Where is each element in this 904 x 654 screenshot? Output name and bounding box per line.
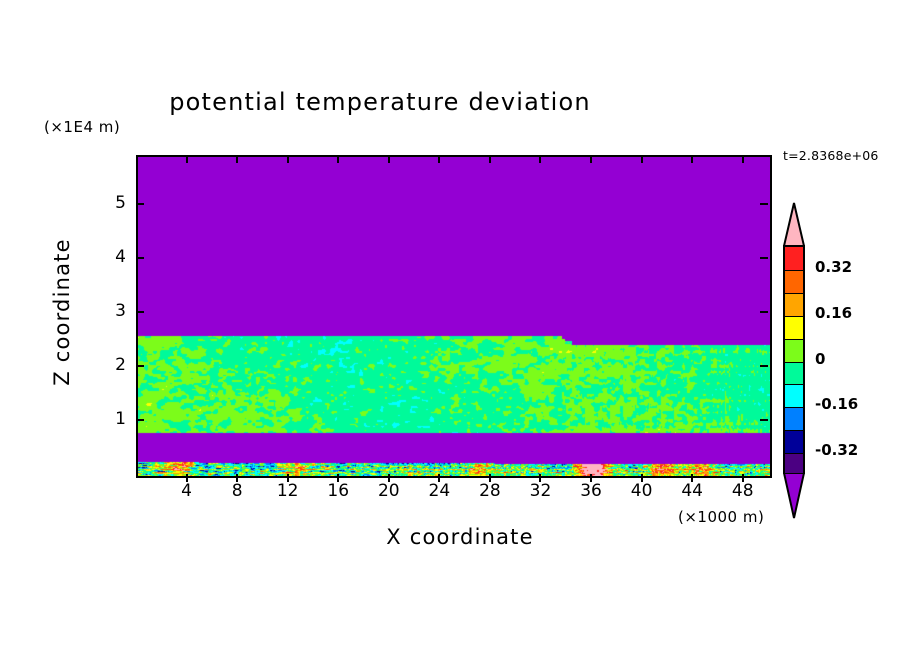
x-tick-label-20: 20 <box>369 481 409 501</box>
contour-field <box>138 157 770 476</box>
x-axis-title: X coordinate <box>280 525 640 549</box>
colorbar-separator-3 <box>785 316 803 317</box>
x-tick-label-24: 24 <box>419 481 459 501</box>
y-tick-label-4: 4 <box>100 247 126 267</box>
x-tick-top-20 <box>388 155 390 163</box>
colorbar-label-4: -0.32 <box>815 441 858 459</box>
colorbar-top-arrow <box>783 202 805 246</box>
colorbar-separator-6 <box>785 384 803 385</box>
colorbar-label-2: 0 <box>815 350 825 368</box>
x-tick-top-12 <box>287 155 289 163</box>
colorbar-separator-4 <box>785 339 803 340</box>
x-tick-top-40 <box>641 155 643 163</box>
colorbar-band-7 <box>785 407 803 430</box>
y-tick-right-3 <box>760 311 768 313</box>
colorbar-label-3: -0.16 <box>815 395 858 413</box>
colorbar-band-2 <box>785 293 803 316</box>
y-tick-4 <box>136 257 144 259</box>
colorbar-band-8 <box>785 430 803 453</box>
colorbar-label-1: 0.16 <box>815 304 852 322</box>
contour-plot-area <box>136 155 772 478</box>
x-tick-label-28: 28 <box>470 481 510 501</box>
y-tick-label-3: 3 <box>100 301 126 321</box>
y-tick-right-4 <box>760 257 768 259</box>
y-tick-label-2: 2 <box>100 355 126 375</box>
y-tick-1 <box>136 419 144 421</box>
x-tick-top-8 <box>236 155 238 163</box>
y-axis-unit-label: (×1E4 m) <box>44 118 120 136</box>
figure-canvas: potential temperature deviation (×1E4 m)… <box>0 0 904 654</box>
x-tick-label-40: 40 <box>622 481 662 501</box>
y-tick-label-5: 5 <box>100 193 126 213</box>
x-tick-label-4: 4 <box>167 481 207 501</box>
colorbar-separator-7 <box>785 407 803 408</box>
x-tick-label-32: 32 <box>520 481 560 501</box>
colorbar-separator-1 <box>785 270 803 271</box>
colorbar-bottom-arrow <box>783 473 805 519</box>
x-tick-label-16: 16 <box>318 481 358 501</box>
x-tick-top-44 <box>691 155 693 163</box>
x-tick-top-36 <box>590 155 592 163</box>
x-tick-label-12: 12 <box>268 481 308 501</box>
colorbar-band-4 <box>785 339 803 362</box>
x-tick-top-48 <box>742 155 744 163</box>
y-tick-right-2 <box>760 365 768 367</box>
y-tick-2 <box>136 365 144 367</box>
y-tick-right-1 <box>760 419 768 421</box>
colorbar-band-0 <box>785 247 803 270</box>
colorbar-separator-2 <box>785 293 803 294</box>
colorbar: 0.320.160-0.16-0.32 <box>781 202 809 517</box>
x-tick-top-24 <box>438 155 440 163</box>
x-axis-unit-label: (×1000 m) <box>678 508 764 526</box>
page-title: potential temperature deviation <box>0 88 760 116</box>
x-tick-top-4 <box>186 155 188 163</box>
colorbar-separator-5 <box>785 362 803 363</box>
x-tick-top-32 <box>539 155 541 163</box>
x-tick-label-36: 36 <box>571 481 611 501</box>
colorbar-label-0: 0.32 <box>815 258 852 276</box>
colorbar-band-6 <box>785 384 803 407</box>
colorbar-band-5 <box>785 362 803 385</box>
x-tick-label-44: 44 <box>672 481 712 501</box>
y-tick-5 <box>136 203 144 205</box>
y-tick-label-1: 1 <box>100 409 126 429</box>
y-tick-right-5 <box>760 203 768 205</box>
x-tick-label-8: 8 <box>217 481 257 501</box>
colorbar-separator-8 <box>785 430 803 431</box>
x-tick-top-28 <box>489 155 491 163</box>
y-tick-3 <box>136 311 144 313</box>
x-tick-top-16 <box>337 155 339 163</box>
x-tick-label-48: 48 <box>723 481 763 501</box>
colorbar-band-1 <box>785 270 803 293</box>
colorbar-scale <box>783 245 805 474</box>
time-annotation: t=2.8368e+06 <box>783 148 879 163</box>
colorbar-separator-9 <box>785 453 803 454</box>
y-axis-title: Z coordinate <box>50 202 74 422</box>
colorbar-band-3 <box>785 316 803 339</box>
